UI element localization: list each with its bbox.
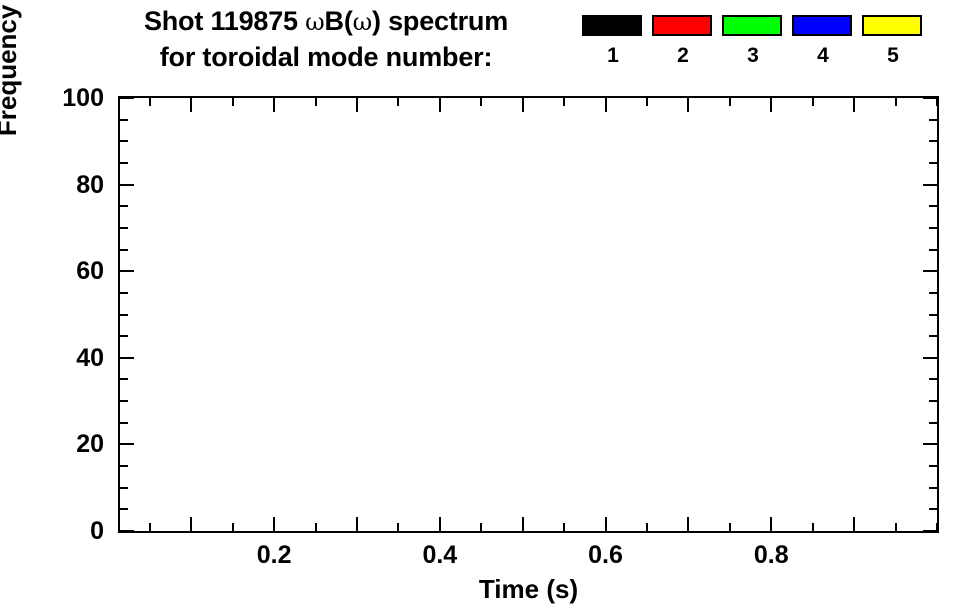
y-tick-right-10: [929, 487, 937, 489]
y-tick-right-35: [929, 378, 937, 380]
y-tick-minor-65: [120, 249, 128, 251]
title-spectrum-text: ) spectrum: [372, 6, 508, 36]
y-tick-major-60: [120, 270, 134, 272]
legend-swatch-mode-5: [862, 15, 922, 36]
title-b-open: B(: [325, 6, 353, 36]
x-tick-major-0.4: [439, 98, 441, 112]
x-tick-bottom-0.6: [605, 517, 607, 531]
legend-swatch-mode-4: [792, 15, 852, 36]
x-tick-bottom-0.35: [397, 523, 399, 531]
x-tick-label-0.8: 0.8: [731, 543, 811, 568]
x-tick-minor-0.15: [232, 98, 234, 106]
x-tick-bottom-0.65: [646, 523, 648, 531]
y-tick-major-80: [120, 184, 134, 186]
x-tick-major-0.7: [687, 98, 689, 112]
y-tick-right-50: [929, 314, 937, 316]
y-tick-minor-95: [120, 119, 128, 121]
y-tick-minor-15: [120, 465, 128, 467]
y-tick-minor-70: [120, 227, 128, 229]
x-tick-bottom-0.3: [356, 517, 358, 531]
y-tick-right-55: [929, 292, 937, 294]
x-tick-major-0.3: [356, 98, 358, 112]
legend-item-mode-1[interactable]: 1: [582, 15, 644, 66]
y-tick-right-65: [929, 249, 937, 251]
figure-title-line-2: for toroidal mode number:: [86, 40, 566, 75]
x-tick-bottom-0.4: [439, 517, 441, 531]
y-tick-right-0: [923, 530, 937, 532]
y-tick-minor-90: [120, 140, 128, 142]
x-tick-minor-0.25: [315, 98, 317, 106]
plot-data-area: [120, 98, 937, 531]
omega-symbol-2: ω: [353, 8, 372, 36]
y-tick-major-100: [120, 97, 134, 99]
y-tick-minor-25: [120, 422, 128, 424]
y-tick-major-20: [120, 443, 134, 445]
x-tick-bottom-0.85: [812, 523, 814, 531]
x-tick-label-0.6: 0.6: [566, 543, 646, 568]
x-tick-bottom-0.05: [149, 523, 151, 531]
y-tick-right-5: [929, 508, 937, 510]
x-tick-label-0.4: 0.4: [400, 543, 480, 568]
y-tick-minor-50: [120, 314, 128, 316]
y-tick-right-45: [929, 335, 937, 337]
spectrum-plot-figure: Shot 119875 ωB(ω) spectrum for toroidal …: [0, 0, 963, 615]
y-tick-label-0: 0: [0, 519, 104, 544]
y-tick-right-75: [929, 205, 937, 207]
y-tick-label-100: 100: [0, 86, 104, 111]
omega-symbol-1: ω: [305, 8, 324, 36]
legend-label-mode-3: 3: [722, 45, 784, 66]
legend-label-mode-2: 2: [652, 45, 714, 66]
figure-title-line-1: Shot 119875 ωB(ω) spectrum: [86, 4, 566, 40]
x-tick-minor-0.35: [397, 98, 399, 106]
y-tick-label-40: 40: [0, 346, 104, 371]
y-tick-right-85: [929, 162, 937, 164]
x-tick-bottom-0.15: [232, 523, 234, 531]
y-tick-minor-45: [120, 335, 128, 337]
x-tick-bottom-0.8: [770, 517, 772, 531]
legend-item-mode-2[interactable]: 2: [652, 15, 714, 66]
x-tick-minor-0.65: [646, 98, 648, 106]
title-shot-text: Shot 119875: [144, 6, 305, 36]
y-tick-right-20: [923, 443, 937, 445]
legend-swatch-mode-3: [722, 15, 782, 36]
y-tick-label-20: 20: [0, 432, 104, 457]
y-tick-minor-35: [120, 378, 128, 380]
x-tick-minor-0.55: [563, 98, 565, 106]
x-tick-minor-0.95: [895, 98, 897, 106]
y-tick-right-95: [929, 119, 937, 121]
y-tick-right-70: [929, 227, 937, 229]
x-tick-bottom-0.1: [190, 517, 192, 531]
legend-label-mode-1: 1: [582, 45, 644, 66]
legend-item-mode-4[interactable]: 4: [792, 15, 854, 66]
x-tick-bottom-0.5: [522, 517, 524, 531]
x-tick-major-0.5: [522, 98, 524, 112]
x-tick-bottom-1: [936, 523, 938, 531]
x-tick-minor-0.05: [149, 98, 151, 106]
y-tick-right-90: [929, 140, 937, 142]
x-tick-bottom-0.25: [315, 523, 317, 531]
y-tick-major-0: [120, 530, 134, 532]
y-tick-minor-10: [120, 487, 128, 489]
y-tick-right-30: [929, 400, 937, 402]
y-tick-major-40: [120, 357, 134, 359]
x-tick-major-0.9: [853, 98, 855, 112]
legend-item-mode-3[interactable]: 3: [722, 15, 784, 66]
x-tick-bottom-0.95: [895, 523, 897, 531]
x-tick-minor-0.85: [812, 98, 814, 106]
x-tick-major-0.2: [273, 98, 275, 112]
x-tick-minor-0.45: [480, 98, 482, 106]
y-tick-right-25: [929, 422, 937, 424]
x-tick-bottom-0.55: [563, 523, 565, 531]
y-tick-right-40: [923, 357, 937, 359]
y-tick-label-60: 60: [0, 259, 104, 284]
figure-title: Shot 119875 ωB(ω) spectrum for toroidal …: [86, 4, 566, 75]
plot-frame: [118, 96, 939, 533]
x-tick-bottom-0.7: [687, 517, 689, 531]
legend-item-mode-5[interactable]: 5: [862, 15, 924, 66]
y-tick-minor-55: [120, 292, 128, 294]
legend-swatch-mode-1: [582, 15, 642, 36]
legend-label-mode-5: 5: [862, 45, 924, 66]
x-axis-title: Time (s): [118, 576, 939, 602]
legend-swatch-mode-2: [652, 15, 712, 36]
x-tick-minor-1: [936, 98, 938, 106]
y-tick-right-60: [923, 270, 937, 272]
y-tick-minor-30: [120, 400, 128, 402]
y-tick-right-80: [923, 184, 937, 186]
y-tick-minor-85: [120, 162, 128, 164]
y-tick-right-15: [929, 465, 937, 467]
x-tick-bottom-0.45: [480, 523, 482, 531]
x-tick-major-0.6: [605, 98, 607, 112]
x-tick-minor-0.75: [729, 98, 731, 106]
x-tick-bottom-0.9: [853, 517, 855, 531]
x-tick-major-0.8: [770, 98, 772, 112]
x-tick-bottom-0.75: [729, 523, 731, 531]
y-tick-minor-75: [120, 205, 128, 207]
legend-label-mode-4: 4: [792, 45, 854, 66]
x-tick-label-0.2: 0.2: [234, 543, 314, 568]
x-tick-major-0.1: [190, 98, 192, 112]
y-tick-minor-5: [120, 508, 128, 510]
y-tick-right-100: [923, 97, 937, 99]
x-tick-bottom-0.2: [273, 517, 275, 531]
y-tick-label-80: 80: [0, 173, 104, 198]
